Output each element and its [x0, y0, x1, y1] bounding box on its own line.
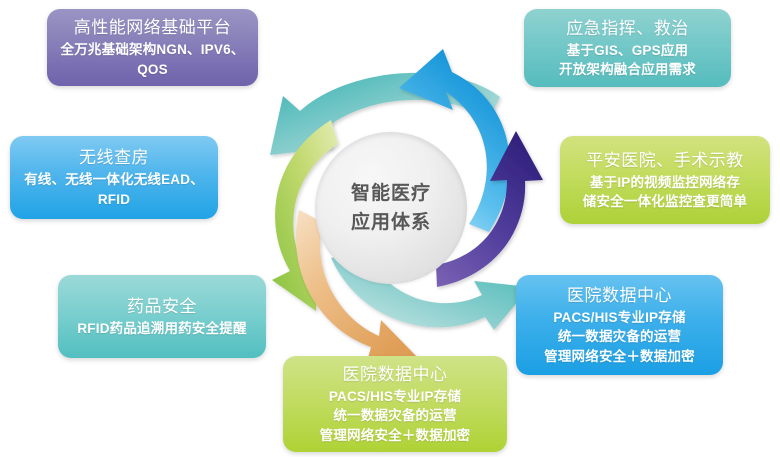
card-datacenter-blue-line-1: PACS/HIS专业IP存储 — [553, 308, 685, 327]
card-emergency[interactable]: 应急指挥、救治 基于GIS、GPS应用 开放架构融合应用需求 — [524, 9, 731, 87]
diagram-canvas: 智能医疗 应用体系 高性能网络基础平台 全万兆基础架构NGN、IPV6、QOS … — [0, 0, 780, 457]
card-datacenter-blue-line-2: 统一数据灾备的运营 — [558, 327, 681, 346]
card-network[interactable]: 高性能网络基础平台 全万兆基础架构NGN、IPV6、QOS — [47, 9, 258, 86]
card-datacenter-blue-title: 医院数据中心 — [567, 284, 672, 308]
card-datacenter-blue[interactable]: 医院数据中心 PACS/HIS专业IP存储 统一数据灾备的运营 管理网络安全＋数… — [516, 275, 723, 375]
card-datacenter-green-line-3: 管理网络安全＋数据加密 — [320, 426, 471, 445]
card-datacenter-green-title: 医院数据中心 — [343, 363, 448, 387]
card-wireless-title: 无线查房 — [79, 146, 149, 170]
hub-line-2: 应用体系 — [351, 208, 431, 237]
card-wireless[interactable]: 无线查房 有线、无线一体化无线EAD、RFID — [10, 136, 218, 219]
hub-line-1: 智能医疗 — [351, 179, 431, 208]
card-wireless-line-1: 有线、无线一体化无线EAD、RFID — [20, 170, 208, 208]
card-datacenter-green[interactable]: 医院数据中心 PACS/HIS专业IP存储 统一数据灾备的运营 管理网络安全＋数… — [283, 356, 507, 452]
card-drug-line-1: RFID药品追溯用药安全提醒 — [77, 319, 246, 338]
card-safety-hospital-title: 平安医院、手术示教 — [586, 149, 744, 173]
card-safety-hospital[interactable]: 平安医院、手术示教 基于IP的视频监控网络存 储安全一体化监控查更简单 — [560, 136, 770, 224]
card-network-title: 高性能网络基础平台 — [74, 16, 232, 40]
card-emergency-line-1: 基于GIS、GPS应用 — [567, 41, 688, 60]
card-emergency-title: 应急指挥、救治 — [566, 17, 689, 41]
card-drug[interactable]: 药品安全 RFID药品追溯用药安全提醒 — [58, 275, 266, 358]
card-safety-hospital-line-2: 储安全一体化监控查更简单 — [583, 192, 747, 211]
card-safety-hospital-line-1: 基于IP的视频监控网络存 — [590, 173, 740, 192]
card-datacenter-blue-line-3: 管理网络安全＋数据加密 — [544, 347, 695, 366]
card-datacenter-green-line-2: 统一数据灾备的运营 — [333, 406, 456, 425]
card-emergency-line-2: 开放架构融合应用需求 — [559, 60, 696, 79]
card-network-line-1: 全万兆基础架构NGN、IPV6、QOS — [57, 40, 248, 78]
center-hub: 智能医疗 应用体系 — [315, 132, 467, 284]
card-datacenter-green-line-1: PACS/HIS专业IP存储 — [329, 387, 461, 406]
card-drug-title: 药品安全 — [127, 295, 197, 319]
